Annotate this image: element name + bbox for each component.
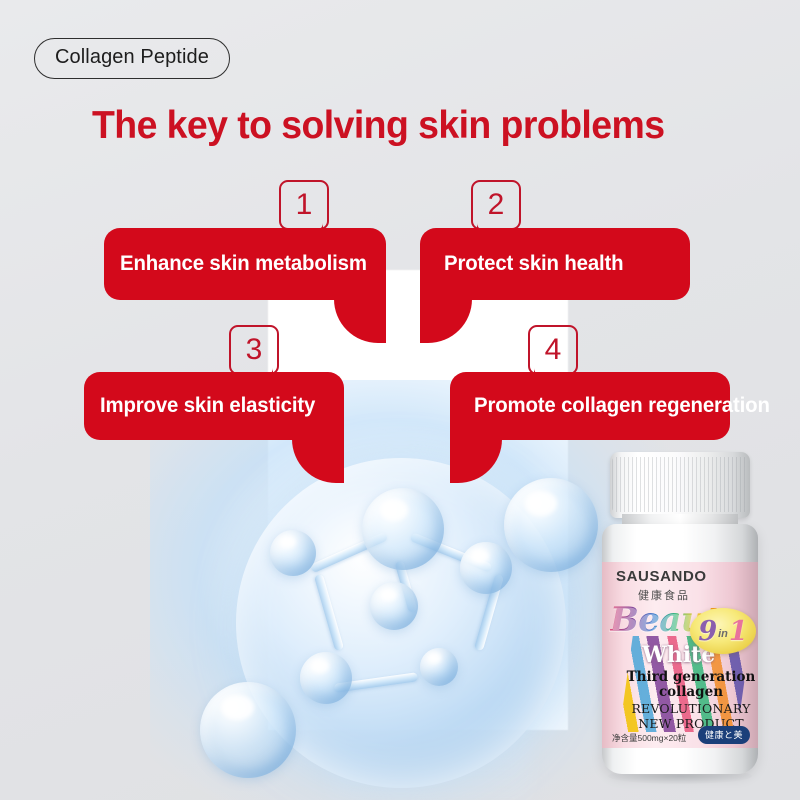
benefit-number-2: 2 (488, 190, 505, 220)
molecule-sphere-center (370, 582, 418, 630)
net-weight-text: 净含量500mg×20粒 (612, 732, 686, 744)
molecule-graphic (212, 430, 612, 800)
benefit-number-1: 1 (296, 190, 313, 220)
badge-nine: 9 (698, 616, 717, 647)
page-title: The key to solving skin problems (92, 104, 664, 148)
benefit-number-badge-3: 3 (229, 325, 279, 375)
molecule-bubble-bottom-left (200, 682, 296, 778)
descriptor-line-2: collagen (659, 684, 723, 700)
benefit-banner-3: Improve skin elasticity (84, 372, 344, 440)
benefit-label-2: Protect skin health (444, 252, 623, 276)
bottle-body: SAUSANDO 健康食品 Beauty White Third generat… (602, 524, 758, 774)
molecule-sphere-center-top (362, 488, 444, 570)
molecule-sphere-right-upper (460, 542, 512, 594)
molecule-sphere-left-lower (300, 652, 352, 704)
benefit-number-badge-1: 1 (279, 180, 329, 230)
benefit-banner-2: Protect skin health (420, 228, 690, 300)
molecule-sphere-left-upper (270, 530, 316, 576)
benefit-label-4: Promote collagen regeneration (474, 394, 770, 418)
benefit-banner-4: Promote collagen regeneration (450, 372, 730, 440)
benefit-banner-1: Enhance skin metabolism (104, 228, 386, 300)
brand-name: SAUSANDO (616, 568, 707, 585)
nine-in-one-badge: 9 in 1 (690, 608, 756, 654)
badge-in: in (718, 628, 728, 640)
bottle-cap (610, 452, 750, 518)
benefit-number-4: 4 (545, 335, 562, 365)
benefit-label-1: Enhance skin metabolism (120, 252, 367, 276)
benefit-number-3: 3 (246, 335, 263, 365)
descriptor-line-1: Third generation (627, 669, 756, 685)
benefit-number-badge-4: 4 (528, 325, 578, 375)
molecule-bubble-top-right (504, 478, 598, 572)
product-ad-canvas: Collagen Peptide The key to solving skin… (0, 0, 800, 800)
benefit-number-badge-2: 2 (471, 180, 521, 230)
health-beauty-badge: 健康と美 (698, 726, 750, 744)
molecule-sphere-right-lower (420, 648, 458, 686)
product-descriptor: Third generation collagen (624, 670, 758, 700)
product-bottle: SAUSANDO 健康食品 Beauty White Third generat… (592, 452, 768, 782)
badge-one: 1 (729, 616, 748, 647)
benefit-label-3: Improve skin elasticity (100, 394, 315, 418)
category-tag: Collagen Peptide (34, 38, 230, 79)
product-label: SAUSANDO 健康食品 Beauty White Third generat… (602, 562, 758, 748)
cap-ribs (612, 457, 748, 512)
tagline-line-1: REVOLUTIONARY (631, 701, 750, 716)
